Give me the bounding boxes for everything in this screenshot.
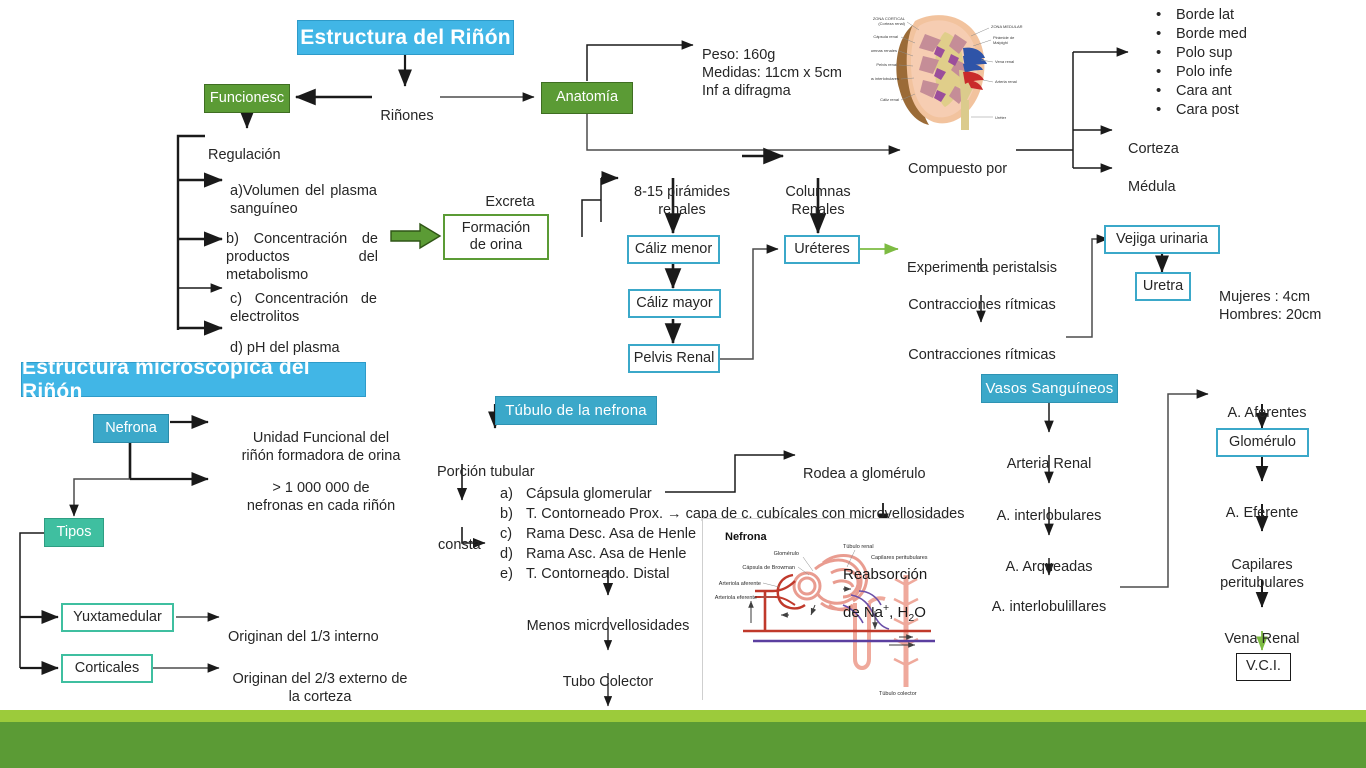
node-anatomia: Anatomía <box>541 82 633 114</box>
list-item: a) Cápsula glomerular <box>500 484 970 504</box>
node-uretra-label: Uretra <box>1143 278 1183 295</box>
node-rodea-glomerulo: Rodea a glomérulo <box>803 447 926 483</box>
node-pelvis-renal: Pelvis Renal <box>628 344 720 373</box>
tubulo-title-text: Túbulo de la nefrona <box>505 402 647 419</box>
svg-text:Cápsula de Browman: Cápsula de Browman <box>742 565 795 571</box>
node-contracciones-2: Contracciones rítmicas <box>898 328 1066 364</box>
funcion-item-c: c) Concentración de electrolitos <box>230 272 377 326</box>
svg-text:Arterias interlobulares: Arterias interlobulares <box>871 76 899 81</box>
node-rinones-label: Riñones <box>380 108 433 124</box>
node-uretra: Uretra <box>1135 272 1191 301</box>
node-nefrona-label: Nefrona <box>105 420 157 437</box>
node-yuxtamedular: Yuxtamedular <box>61 603 174 632</box>
node-funcionesc: Funcionesc <box>204 84 290 113</box>
anatomia-medidas-text: Peso: 160g Medidas: 11cm x 5cm Inf a dif… <box>702 47 842 99</box>
node-vejiga-urinaria: Vejiga urinaria <box>1104 225 1220 254</box>
svg-text:Arteriola aferente: Arteriola aferente <box>719 581 761 587</box>
node-rinones: Riñones <box>372 89 442 125</box>
node-corteza-label: Corteza <box>1128 141 1179 157</box>
tubulo-title-banner: Túbulo de la nefrona <box>495 396 657 425</box>
vasos-title-text: Vasos Sanguíneos <box>985 380 1113 397</box>
svg-text:Arteriola eferente: Arteriola eferente <box>715 595 757 601</box>
node-corticales: Corticales <box>61 654 153 683</box>
svg-text:Malpighi: Malpighi <box>993 40 1008 45</box>
node-a-arqueadas: A. Arqueadas <box>979 540 1119 576</box>
node-porcion-tubular-label: Porción tubular <box>437 464 535 480</box>
node-columnas-renales: Columnas Renales <box>778 165 858 219</box>
micro-title-text: Estructura microscópica del Riñón <box>22 356 365 404</box>
node-excreta: Excreta <box>470 175 550 211</box>
yuxtamedular-descripcion: Originan del 1/3 interno <box>228 610 428 646</box>
svg-text:Columnas renales: Columnas renales <box>871 48 897 53</box>
list-item: Polo infe <box>1150 63 1300 82</box>
node-funcionesc-label: Funcionesc <box>210 90 284 107</box>
node-pelvis-renal-label: Pelvis Renal <box>634 350 715 367</box>
concept-map-canvas: Estructura del Riñón Estructura microscó… <box>0 0 1366 768</box>
node-medula-label: Médula <box>1128 179 1176 195</box>
node-corticales-label: Corticales <box>75 660 139 677</box>
node-caliz-mayor: Cáliz mayor <box>628 289 721 318</box>
node-arteria-renal: Arteria Renal <box>979 437 1119 473</box>
node-tipos: Tipos <box>44 518 104 547</box>
node-anatomia-label: Anatomía <box>556 89 618 106</box>
list-item: Borde med <box>1150 25 1300 44</box>
node-glomerulo: Glomérulo <box>1216 428 1309 457</box>
node-vci: V.C.I. <box>1236 653 1291 681</box>
svg-text:Cáliz renal: Cáliz renal <box>880 97 899 102</box>
anatomia-bullets: Borde lat Borde med Polo sup Polo infe C… <box>1150 6 1300 120</box>
node-a-interlobulares: A. interlobulares <box>979 489 1119 525</box>
node-ureteres-label: Uréteres <box>794 241 850 258</box>
node-capilares-peritubulares: Capilares peritubulares <box>1197 538 1327 592</box>
green-block-arrow-icon <box>390 222 442 250</box>
node-nefrona: Nefrona <box>93 414 169 443</box>
reabsorcion-formula: de Na+, H2O <box>843 604 926 621</box>
funcion-item-d: d) pH del plasma <box>230 321 390 357</box>
node-yuxtamedular-label: Yuxtamedular <box>73 609 162 626</box>
node-vci-label: V.C.I. <box>1246 658 1281 675</box>
nefrona-cantidad: > 1 000 000 de nefronas en cada riñón <box>223 461 419 515</box>
svg-text:ZONA MEDULAR: ZONA MEDULAR <box>991 24 1023 29</box>
reabsorcion-annotation: Reabsorción de Na+, H2O <box>843 548 927 625</box>
funcion-item-a: a)Volumen del plasma sanguíneo <box>230 164 377 218</box>
svg-text:Uréter: Uréter <box>995 115 1007 120</box>
node-tipos-label: Tipos <box>57 524 92 541</box>
nefrona-unidad-funcional: Unidad Funcional del riñón formadora de … <box>223 411 419 465</box>
node-corteza: Corteza <box>1128 122 1179 158</box>
svg-text:Cápsula renal: Cápsula renal <box>873 34 898 39</box>
footer-dark-band <box>0 722 1366 768</box>
node-formacion-orina-label: Formación de orina <box>462 220 531 255</box>
svg-text:Túbulo colector: Túbulo colector <box>879 691 917 697</box>
node-rodea-glomerulo-label: Rodea a glomérulo <box>803 466 926 482</box>
node-consta: consta <box>438 518 481 554</box>
node-regulacion-label: Regulación <box>208 147 281 163</box>
nephron-image-title: Nefrona <box>725 531 767 543</box>
footer-light-band <box>0 710 1366 722</box>
list-item: Borde lat <box>1150 6 1300 25</box>
node-a-eferente: A. Eferente <box>1197 486 1327 522</box>
anatomia-medidas: Peso: 160g Medidas: 11cm x 5cm Inf a dif… <box>702 28 882 101</box>
svg-text:Pelvis renal: Pelvis renal <box>876 62 897 67</box>
node-vejiga-label: Vejiga urinaria <box>1116 231 1208 248</box>
svg-text:Arteria renal: Arteria renal <box>995 79 1017 84</box>
svg-text:(Corteza renal): (Corteza renal) <box>878 21 905 26</box>
svg-text:Glomérulo: Glomérulo <box>774 551 799 557</box>
node-peristalsis-label: Experimenta peristalsis <box>907 260 1057 276</box>
node-columnas-label: Columnas Renales <box>785 184 850 218</box>
vasos-title-banner: Vasos Sanguíneos <box>981 374 1118 403</box>
node-medula: Médula <box>1128 160 1176 196</box>
uretra-medidas: Mujeres : 4cm Hombres: 20cm <box>1219 270 1349 324</box>
node-caliz-mayor-label: Cáliz mayor <box>636 295 713 312</box>
main-title-banner: Estructura del Riñón <box>297 20 514 55</box>
node-formacion-orina: Formación de orina <box>443 214 549 260</box>
node-compuesto-por-label: Compuesto por <box>908 161 1007 177</box>
node-compuesto-por: Compuesto por <box>908 142 1028 178</box>
list-item: Cara post <box>1150 101 1300 120</box>
node-peristalsis: Experimenta peristalsis <box>898 241 1066 277</box>
node-ureteres: Uréteres <box>784 235 860 264</box>
corticales-descripcion: Originan del 2/3 externo de la corteza <box>225 652 415 706</box>
node-porcion-tubular: Porción tubular <box>437 445 535 481</box>
node-regulacion: Regulación <box>208 128 281 164</box>
node-piramides-label: 8-15 pirámides renales <box>634 184 730 218</box>
node-contracciones-1: Contracciones rítmicas <box>898 278 1066 314</box>
node-tubo-colector: Tubo Colector <box>530 655 686 691</box>
svg-text:Vena renal: Vena renal <box>995 59 1014 64</box>
kidney-anatomy-image: ZONA CORTICAL (Corteza renal) Cápsula re… <box>871 4 1027 132</box>
node-a-aferentes: A. Aferentes <box>1202 386 1332 422</box>
node-piramides-renales: 8-15 pirámides renales <box>620 165 744 219</box>
node-caliz-menor-label: Cáliz menor <box>635 241 712 258</box>
node-menos-microvellosidades: Menos microvellosidades <box>510 599 706 635</box>
node-consta-label: consta <box>438 537 481 553</box>
main-title-text: Estructura del Riñón <box>300 26 511 50</box>
node-caliz-menor: Cáliz menor <box>627 235 720 264</box>
node-excreta-label: Excreta <box>485 194 534 210</box>
list-item: Cara ant <box>1150 82 1300 101</box>
node-vena-renal: Vena Renal <box>1197 612 1327 648</box>
node-glomerulo-label: Glomérulo <box>1229 434 1296 451</box>
micro-title-banner: Estructura microscópica del Riñón <box>21 362 366 397</box>
list-item: Polo sup <box>1150 44 1300 63</box>
node-a-interlobulillares: A. interlobulillares <box>970 580 1128 616</box>
